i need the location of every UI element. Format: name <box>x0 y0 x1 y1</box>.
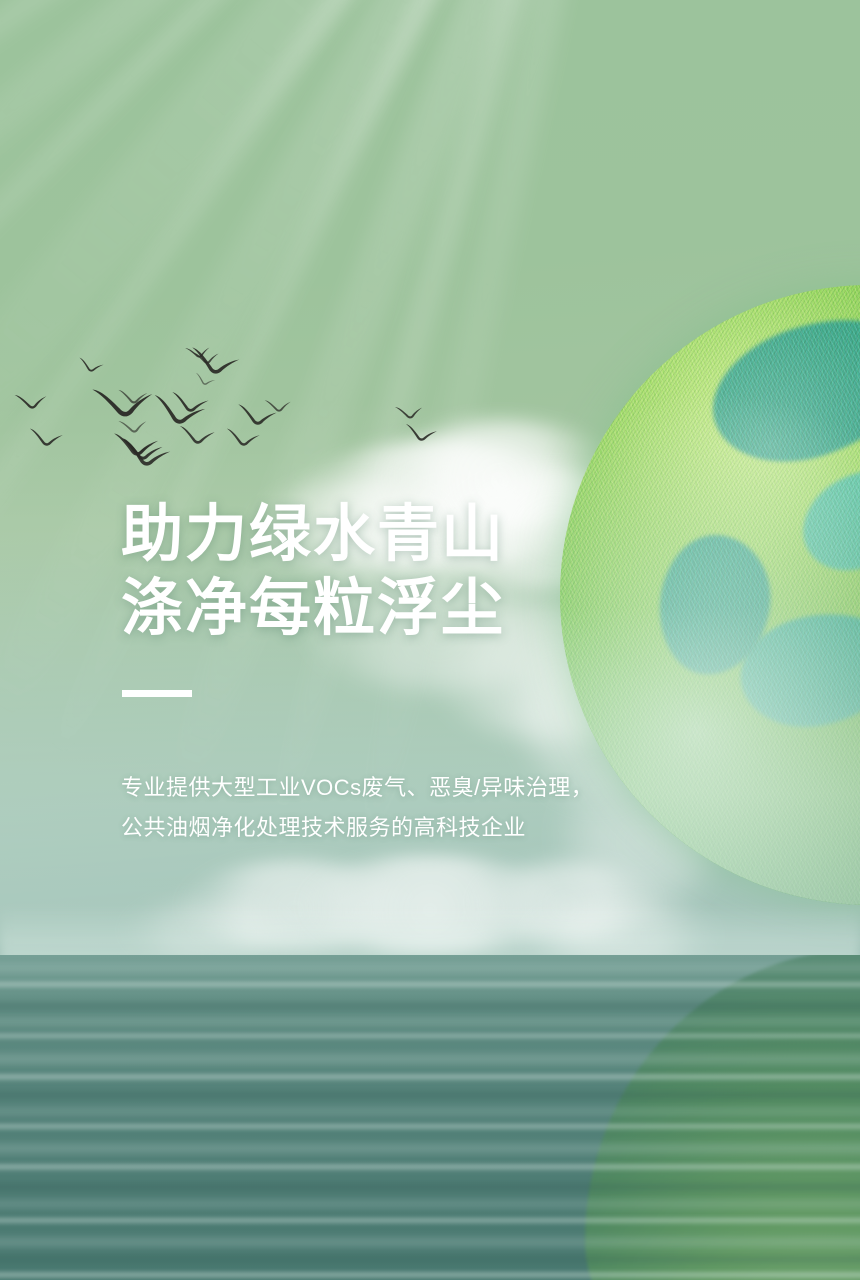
headline-line-1: 助力绿水青山 <box>121 498 505 572</box>
subtitle-line-1: 专业提供大型工业VOCs废气、恶臭/异味治理， <box>121 768 593 808</box>
title-divider <box>122 690 192 697</box>
headline-line-2: 涤净每粒浮尘 <box>121 572 505 646</box>
subtitle: 专业提供大型工业VOCs废气、恶臭/异味治理， 公共油烟净化处理技术服务的高科技… <box>121 768 593 848</box>
bird-icon <box>13 390 49 410</box>
page-title: 助力绿水青山 涤净每粒浮尘 <box>121 498 505 646</box>
bird-icon <box>77 356 105 373</box>
bird-icon <box>28 427 65 447</box>
eco-hero-poster: 助力绿水青山 涤净每粒浮尘 专业提供大型工业VOCs废气、恶臭/异味治理， 公共… <box>0 0 860 1280</box>
subtitle-line-2: 公共油烟净化处理技术服务的高科技企业 <box>121 808 593 848</box>
text-content-block: 助力绿水青山 涤净每粒浮尘 专业提供大型工业VOCs废气、恶臭/异味治理， 公共… <box>121 0 821 1280</box>
